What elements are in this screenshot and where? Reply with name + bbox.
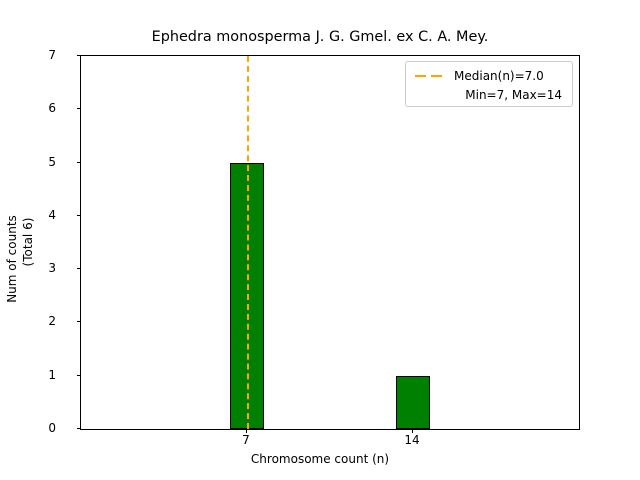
y-tick-label: 3: [16, 261, 56, 275]
legend-label-minmax: Min=7, Max=14: [448, 88, 564, 102]
legend-item-median: Median(n)=7.0: [406, 66, 572, 85]
plot-area: [80, 55, 580, 430]
x-tick-label: 14: [382, 433, 442, 447]
y-tick-label: 2: [16, 314, 56, 328]
legend-label-median: Median(n)=7.0: [448, 69, 564, 83]
y-tick-label: 7: [16, 48, 56, 62]
plot-inner: [81, 56, 579, 429]
x-tick-label: 7: [216, 433, 276, 447]
bar: [396, 376, 430, 429]
y-axis-label-line1: Num of counts: [5, 215, 19, 303]
y-tick-label: 5: [16, 155, 56, 169]
y-tick-label: 0: [16, 421, 56, 435]
y-axis-label: Num of counts (Total 6): [0, 0, 40, 480]
chart-figure: Ephedra monosperma J. G. Gmel. ex C. A. …: [0, 0, 640, 480]
dashed-line-icon: [414, 70, 448, 82]
y-axis-label-line2: (Total 6): [20, 215, 36, 303]
chart-title: Ephedra monosperma J. G. Gmel. ex C. A. …: [0, 29, 640, 45]
blank-handle-icon: [414, 89, 448, 101]
y-tick-label: 6: [16, 101, 56, 115]
x-tick-mark: [246, 429, 247, 433]
y-tick-label: 4: [16, 208, 56, 222]
x-axis-label: Chromosome count (n): [0, 452, 640, 466]
y-tick-label: 1: [16, 368, 56, 382]
legend-item-minmax: Min=7, Max=14: [406, 85, 572, 104]
median-line: [247, 56, 249, 429]
x-tick-mark: [412, 429, 413, 433]
chart-legend: Median(n)=7.0 Min=7, Max=14: [405, 61, 573, 107]
